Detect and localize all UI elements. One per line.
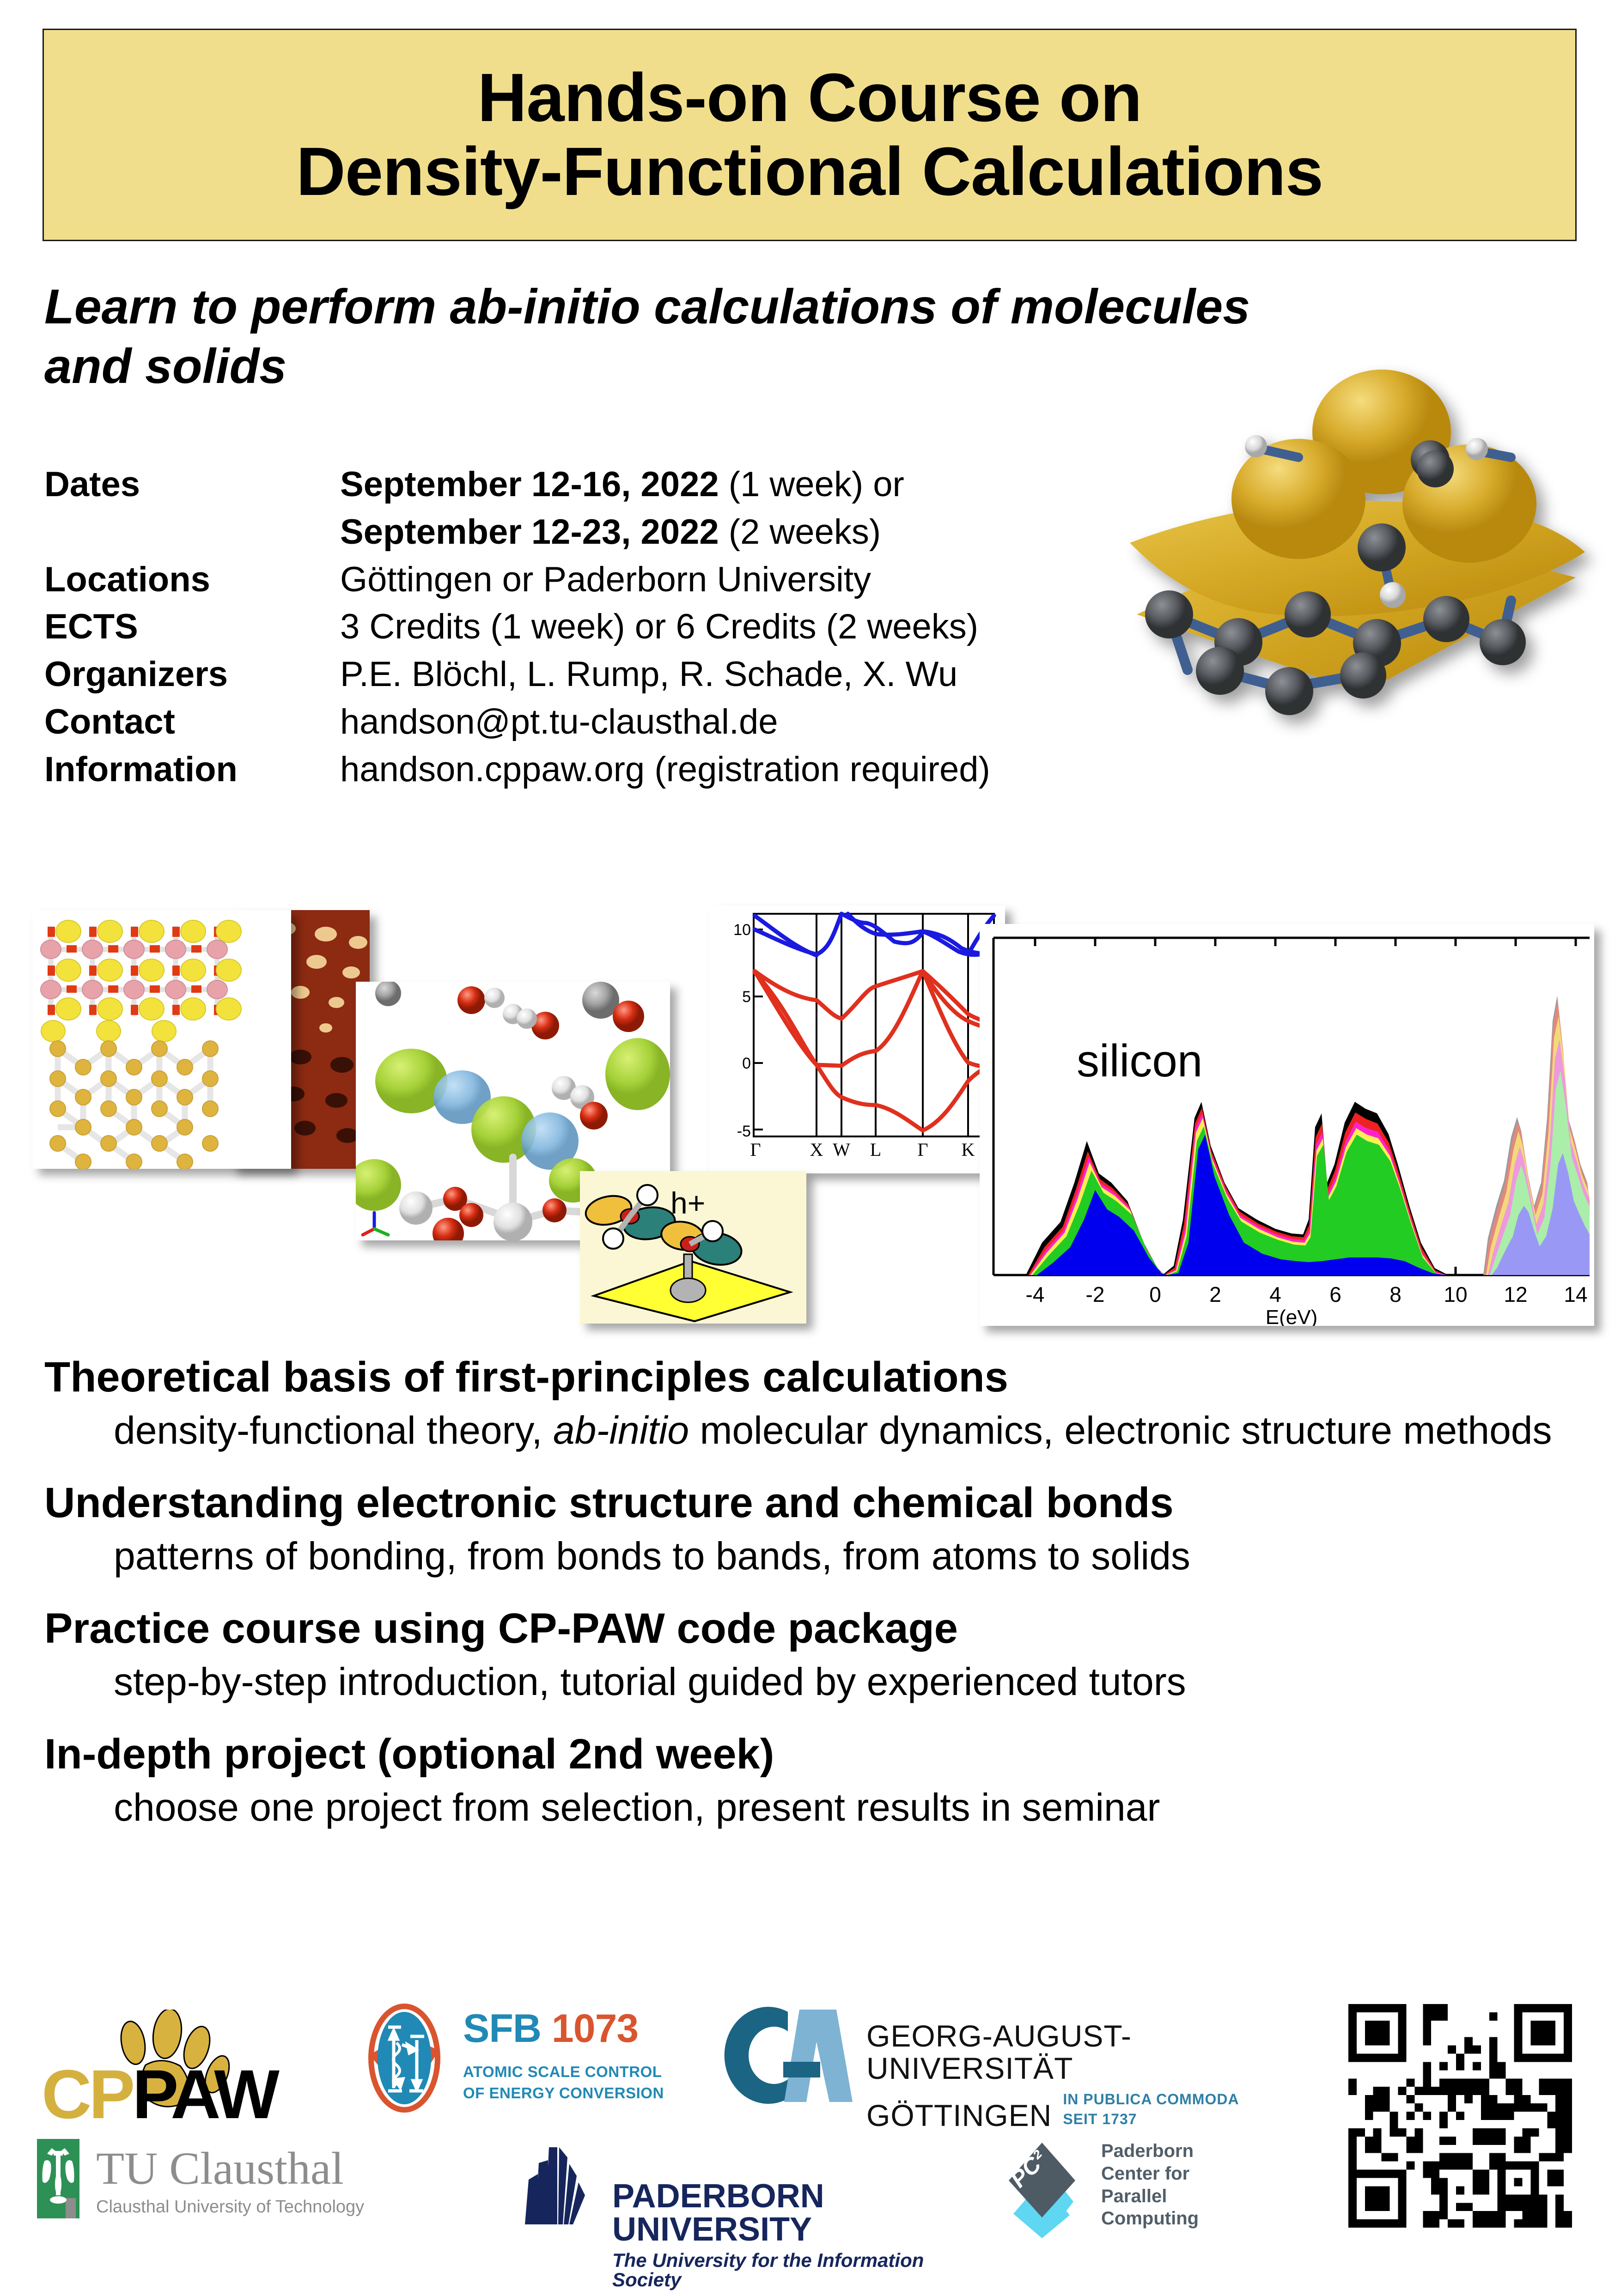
feature-item: Practice course using CP-PAW code packag… [44, 1605, 1588, 1705]
sfb-name: SFB [463, 2006, 541, 2051]
info-label: Contact [44, 699, 340, 745]
dos-xtick-4: 4 [1269, 1282, 1281, 1306]
info-value-rest: P.E. Blöchl, L. Rump, R. Schade, X. Wu [340, 655, 957, 694]
info-row: September 12-23, 2022 (2 weeks) [44, 510, 1246, 555]
band-xtick-X1: X [810, 1139, 823, 1160]
info-row: Locations Göttingen or Paderborn Univers… [44, 557, 1246, 603]
band-structure-plot: 10 5 0 -5 Γ X W L Γ K X [709, 905, 1005, 1173]
info-label: Dates [44, 462, 340, 508]
dos-xtick-8: 8 [1389, 1282, 1402, 1306]
info-value: P.E. Blöchl, L. Rump, R. Schade, X. Wu [340, 652, 957, 698]
band-ytick-10: 10 [733, 921, 751, 939]
title-banner: Hands-on Course on Density-Functional Ca… [43, 29, 1577, 241]
sfb-subtitle-line2: OF ENERGY CONVERSION [463, 2083, 664, 2104]
feature-body-pre: choose one project from selection, prese… [114, 1786, 1160, 1829]
band-ytick-minus5: -5 [737, 1123, 751, 1140]
feature-item: Understanding electronic structure and c… [44, 1479, 1588, 1579]
cppaw-cp-text: CP [42, 2055, 132, 2133]
dos-xtick-12: 12 [1504, 1282, 1527, 1306]
dos-title-silicon: silicon [1077, 1035, 1202, 1086]
info-row: Dates September 12-16, 2022 (1 week) or [44, 462, 1246, 508]
feature-body-pre: step-by-step introduction, tutorial guid… [114, 1660, 1186, 1703]
info-value: 3 Credits (1 week) or 6 Credits (2 weeks… [340, 604, 978, 650]
goettingen-line2: GÖTTINGEN [866, 2100, 1052, 2132]
hole-orbital-diagram: h+ [580, 1171, 806, 1324]
feature-body-pre: density-functional theory, [114, 1409, 553, 1452]
sfb-number: 1073 [552, 2006, 638, 2051]
info-row: Contact handson@pt.tu-clausthal.de [44, 699, 1246, 745]
contact-email[interactable]: handson@pt.tu-clausthal.de [340, 699, 778, 745]
pc2-line3: Parallel [1101, 2185, 1199, 2208]
sfb-subtitle-line1: ATOMIC SCALE CONTROL [463, 2061, 664, 2083]
dos-xtick--2: -2 [1086, 1282, 1105, 1306]
info-value-bold: September 12-23, 2022 [340, 512, 719, 552]
info-value-rest: (2 weeks) [719, 512, 881, 552]
info-value-rest: 3 Credits (1 week) or 6 Credits (2 weeks… [340, 607, 978, 646]
figure-collage: 10 5 0 -5 Γ X W L Γ K X [32, 905, 1594, 1330]
paderborn-building-icon [518, 2144, 605, 2236]
feature-item: In-depth project (optional 2nd week) cho… [44, 1731, 1588, 1830]
ga-monogram-icon [714, 1998, 857, 2114]
pc2-line4: Computing [1101, 2207, 1199, 2230]
goettingen-motto1: IN PUBLICA COMMODA [1063, 2089, 1239, 2109]
info-value-bold: September 12-16, 2022 [340, 465, 719, 504]
title-line-1: Hands-on Course on [477, 61, 1141, 135]
sfb-energy-icon [351, 2000, 457, 2116]
logo-georg-august-universitaet-goettingen[interactable]: GEORG-AUGUST-UNIVERSITÄT GÖTTINGEN IN PU… [714, 1998, 1315, 2114]
sfb-title: SFB 1073 [463, 2009, 664, 2048]
info-label: Locations [44, 557, 340, 603]
logo-sfb-1073[interactable]: SFB 1073 ATOMIC SCALE CONTROL OF ENERGY … [351, 2000, 684, 2116]
feature-item: Theoretical basis of first-principles ca… [44, 1354, 1588, 1453]
feature-list: Theoretical basis of first-principles ca… [44, 1354, 1588, 1857]
pc2-diamond-icon: PC² [996, 2134, 1093, 2241]
info-value-rest: Göttingen or Paderborn University [340, 560, 871, 599]
pc2-line1: Paderborn [1101, 2140, 1199, 2162]
pc2-line2: Center for [1101, 2162, 1199, 2185]
logo-cppaw[interactable]: CPPAW [42, 2010, 337, 2116]
tu-clausthal-name: TU Clausthal [96, 2145, 364, 2192]
logo-paderborn-university[interactable]: PADERBORN UNIVERSITY The University for … [518, 2144, 933, 2245]
dos-xtick-10: 10 [1444, 1282, 1467, 1306]
title-line-2: Density-Functional Calculations [296, 135, 1323, 209]
paderborn-subtitle: The University for the Information Socie… [612, 2251, 933, 2290]
info-value-rest: handson.cppaw.org (registration required… [340, 750, 990, 789]
tu-clausthal-crest-icon [37, 2139, 92, 2227]
band-xtick-K: K [962, 1139, 975, 1160]
feature-body-pre: patterns of bonding, from bonds to bands… [114, 1534, 1190, 1578]
dos-xtick-0: 0 [1149, 1282, 1161, 1306]
dos-xtick-2: 2 [1209, 1282, 1221, 1306]
band-ytick-0: 0 [742, 1055, 751, 1072]
info-row: Organizers P.E. Blöchl, L. Rump, R. Scha… [44, 652, 1246, 698]
cppaw-paw-text: PAW [132, 2055, 277, 2133]
feature-description: step-by-step introduction, tutorial guid… [44, 1659, 1588, 1705]
tu-clausthal-subtitle: Clausthal University of Technology [96, 2198, 364, 2216]
dos-xtick--4: -4 [1026, 1282, 1045, 1306]
info-row: Information handson.cppaw.org (registrat… [44, 747, 1246, 793]
band-xtick-L: L [870, 1139, 881, 1160]
sponsor-logos: CPPAW [0, 1982, 1621, 2296]
dos-xtick-14: 14 [1564, 1282, 1587, 1306]
feature-heading: Understanding electronic structure and c… [44, 1479, 1588, 1527]
goettingen-line1: GEORG-AUGUST-UNIVERSITÄT [866, 2020, 1315, 2085]
feature-heading: Practice course using CP-PAW code packag… [44, 1605, 1588, 1652]
qr-code[interactable] [1340, 1996, 1580, 2236]
info-value-rest: handson@pt.tu-clausthal.de [340, 702, 778, 741]
info-value-rest: (1 week) or [719, 465, 904, 504]
feature-heading: In-depth project (optional 2nd week) [44, 1731, 1588, 1778]
goettingen-motto2: SEIT 1737 [1063, 2109, 1239, 2129]
feature-body-italic: ab-initio [553, 1409, 689, 1452]
course-info-table: Dates September 12-16, 2022 (1 week) or … [44, 462, 1246, 795]
feature-heading: Theoretical basis of first-principles ca… [44, 1354, 1588, 1401]
feature-description: density-functional theory, ab-initio mol… [44, 1408, 1588, 1453]
paderborn-name: PADERBORN UNIVERSITY [612, 2180, 933, 2246]
band-xtick-W: W [833, 1139, 850, 1160]
logo-pc2[interactable]: PC² Paderborn Center for Parallel Comput… [996, 2134, 1282, 2241]
information-url[interactable]: handson.cppaw.org (registration required… [340, 747, 990, 793]
logo-tu-clausthal[interactable]: TU Clausthal Clausthal University of Tec… [37, 2139, 453, 2241]
info-value: Göttingen or Paderborn University [340, 557, 871, 603]
density-of-states-plot: -4 -2 0 2 4 6 8 10 12 14 E(eV) silicon [980, 924, 1594, 1326]
band-xtick-gamma2: Γ [917, 1139, 928, 1160]
info-label: Organizers [44, 652, 340, 698]
feature-description: choose one project from selection, prese… [44, 1785, 1588, 1830]
dos-xaxis-label: E(eV) [1266, 1306, 1317, 1326]
feature-description: patterns of bonding, from bonds to bands… [44, 1533, 1588, 1579]
feature-body-post: molecular dynamics, electronic structure… [689, 1409, 1552, 1452]
dos-xtick-6: 6 [1329, 1282, 1341, 1306]
info-label: ECTS [44, 604, 340, 650]
hplus-label: h+ [670, 1186, 705, 1220]
band-xtick-gamma1: Γ [750, 1139, 761, 1160]
crystal-lattice-image [32, 910, 291, 1169]
info-value: September 12-16, 2022 (1 week) or [340, 462, 904, 508]
info-row: ECTS 3 Credits (1 week) or 6 Credits (2 … [44, 604, 1246, 650]
info-value: September 12-23, 2022 (2 weeks) [340, 510, 881, 555]
band-ytick-5: 5 [742, 988, 751, 1006]
info-label: Information [44, 747, 340, 793]
